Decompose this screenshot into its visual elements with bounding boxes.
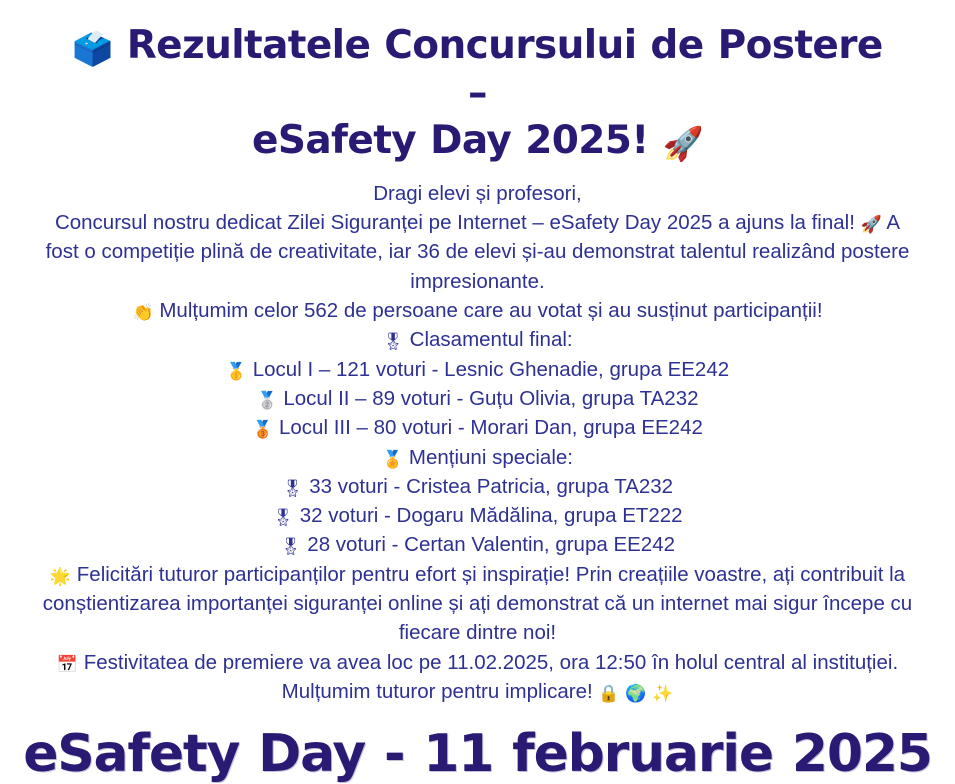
military-medal-icon: 🎖 <box>382 332 404 352</box>
event-line: 📅 Festivitatea de premiere va avea loc p… <box>24 648 931 677</box>
event-text: Festivitatea de premiere va avea loc pe … <box>84 651 898 674</box>
ranking-row-text: Locul I – 121 voturi - Lesnic Ghenadie, … <box>253 358 729 381</box>
mention-row-text: 33 voturi - Cristea Patricia, grupa TA23… <box>309 475 673 498</box>
mention-row: 🎖 33 voturi - Cristea Patricia, grupa TA… <box>24 472 931 501</box>
ranking-row: 🥇 Locul I – 121 voturi - Lesnic Ghenadie… <box>24 355 931 384</box>
closing-line: Mulțumim tuturor pentru implicare! 🔒 🌍 ✨ <box>24 677 931 706</box>
silver-medal-icon: 🥈 <box>256 391 277 411</box>
ranking-heading-text: Clasamentul final: <box>410 328 573 351</box>
ranking-row: 🥈 Locul II – 89 voturi - Guțu Olivia, gr… <box>24 384 931 413</box>
poster-title: 🗳️ Rezultatele Concursului de Postere – … <box>0 0 955 165</box>
title-line-2: eSafety Day 2025! 🚀 <box>60 117 895 165</box>
mentions-heading: 🏅 Mențiuni speciale: <box>24 443 931 472</box>
military-medal-icon: 🎖 <box>272 508 294 528</box>
intro-paragraph-part1: Concursul nostru dedicat Zilei Siguranțe… <box>55 211 855 234</box>
bronze-medal-icon: 🥉 <box>252 420 273 440</box>
globe-icon: 🌍 <box>625 684 646 704</box>
ballot-box-icon: 🗳️ <box>72 29 113 68</box>
mention-row: 🎖 28 voturi - Certan Valentin, grupa EE2… <box>24 530 931 559</box>
glowing-star-icon: 🌟 <box>50 567 71 587</box>
mentions-heading-text: Mențiuni speciale: <box>409 446 573 469</box>
gold-medal-icon: 🥇 <box>226 362 247 382</box>
lock-icon: 🔒 <box>598 684 619 704</box>
ranking-row-text: Locul III – 80 voturi - Morari Dan, grup… <box>279 416 703 439</box>
sparkles-icon: ✨ <box>652 684 673 704</box>
ranking-row-text: Locul II – 89 voturi - Guțu Olivia, grup… <box>283 387 698 410</box>
mention-row-text: 32 voturi - Dogaru Mădălina, grupa ET222 <box>300 504 683 527</box>
title-line-1-text: Rezultatele Concursului de Postere – <box>127 23 883 116</box>
mention-row: 🎖 32 voturi - Dogaru Mădălina, grupa ET2… <box>24 501 931 530</box>
ranking-row: 🥉 Locul III – 80 voturi - Morari Dan, gr… <box>24 413 931 442</box>
banner-text: eSafety Day - 11 februarie 2025 <box>23 728 932 780</box>
rocket-icon: 🚀 <box>861 215 882 235</box>
thanks-text: Mulțumim celor 562 de persoane care au v… <box>159 299 822 322</box>
clapping-hands-icon: 👏 <box>132 303 153 323</box>
rocket-icon: 🚀 <box>663 124 704 163</box>
bottom-banner: eSafety Day - 11 februarie 2025 <box>0 728 955 780</box>
poster-body: Dragi elevi și profesori, Concursul nost… <box>0 179 955 707</box>
military-medal-icon: 🎖 <box>280 537 302 557</box>
poster-root: 🗳️ Rezultatele Concursului de Postere – … <box>0 0 955 734</box>
calendar-icon: 📅 <box>57 655 78 675</box>
military-medal-icon: 🎖 <box>282 479 304 499</box>
sports-medal-icon: 🏅 <box>382 450 403 470</box>
closing-text: Mulțumim tuturor pentru implicare! <box>282 680 593 703</box>
mention-row-text: 28 voturi - Certan Valentin, grupa EE242 <box>307 533 675 556</box>
congrats-paragraph: 🌟 Felicitări tuturor participanților pen… <box>24 560 931 648</box>
ranking-heading: 🎖 Clasamentul final: <box>24 325 931 354</box>
congrats-text: Felicitări tuturor participanților pentr… <box>43 563 912 645</box>
thanks-line: 👏 Mulțumim celor 562 de persoane care au… <box>24 296 931 325</box>
greeting-line: Dragi elevi și profesori, <box>24 179 931 208</box>
title-line-2-text: eSafety Day 2025! <box>252 118 649 163</box>
title-line-1: 🗳️ Rezultatele Concursului de Postere – <box>60 22 895 117</box>
intro-paragraph: Concursul nostru dedicat Zilei Siguranțe… <box>24 208 931 296</box>
